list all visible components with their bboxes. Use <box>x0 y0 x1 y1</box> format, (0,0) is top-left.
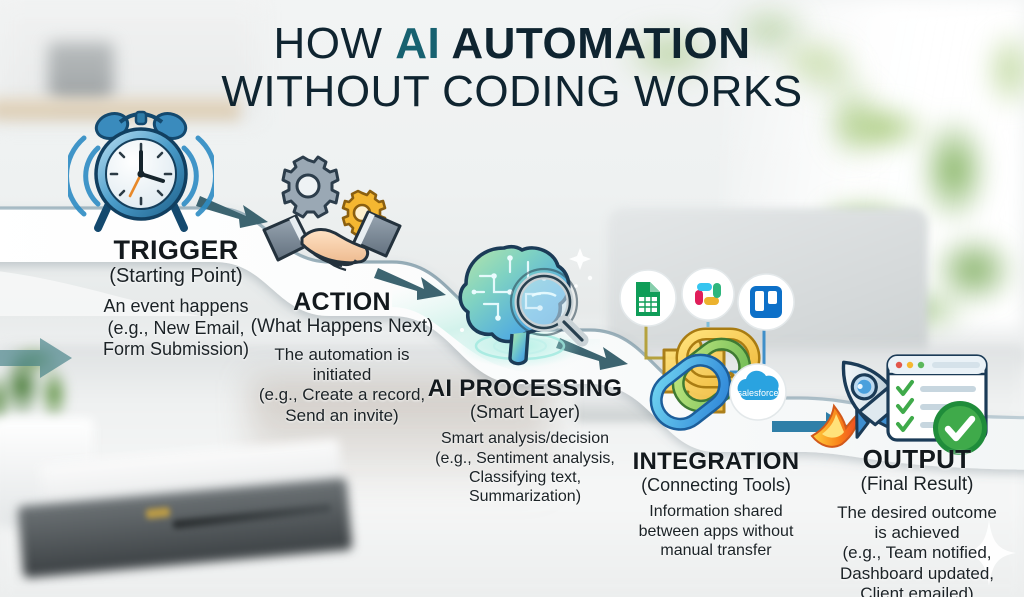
step-trigger-title: TRIGGER <box>58 236 294 264</box>
step-integration: INTEGRATION (Connecting Tools) Informati… <box>600 449 832 560</box>
step-output: OUTPUT (Final Result) The desired outcom… <box>812 446 1022 597</box>
step-integration-title: INTEGRATION <box>600 449 832 474</box>
gear-gray-icon <box>283 157 338 217</box>
headline-ai-word: AI <box>395 19 440 68</box>
headline-line1-pre: HOW <box>274 19 396 68</box>
step-action-title: ACTION <box>228 289 456 315</box>
headline-line1-post: AUTOMATION <box>440 19 750 68</box>
step-ai-subtitle: (Smart Layer) <box>410 402 640 423</box>
step-output-description: The desired outcomeis achieved(e.g., Tea… <box>812 503 1022 597</box>
infographic-canvas: HOW AI AUTOMATION WITHOUT CODING WORKS <box>0 0 1024 597</box>
step-trigger-subtitle: (Starting Point) <box>58 265 294 289</box>
salesforce-logo: salesforce <box>730 364 786 420</box>
trello-logo <box>738 274 794 330</box>
ai-brain-magnifier-icon <box>440 234 600 382</box>
step-integration-description: Information sharedbetween apps withoutma… <box>600 502 832 560</box>
chain-links-apps-icon: salesforce <box>612 262 812 438</box>
alarm-clock-icon <box>68 100 214 236</box>
step-output-title: OUTPUT <box>812 446 1022 473</box>
slack-logo <box>682 268 734 320</box>
step-integration-subtitle: (Connecting Tools) <box>600 475 832 496</box>
step-action-subtitle: (What Happens Next) <box>228 316 456 338</box>
google-sheets-logo <box>620 270 676 326</box>
step-output-subtitle: (Final Result) <box>812 474 1022 496</box>
svg-text:salesforce: salesforce <box>737 388 778 398</box>
step-ai-title: AI PROCESSING <box>410 376 640 401</box>
